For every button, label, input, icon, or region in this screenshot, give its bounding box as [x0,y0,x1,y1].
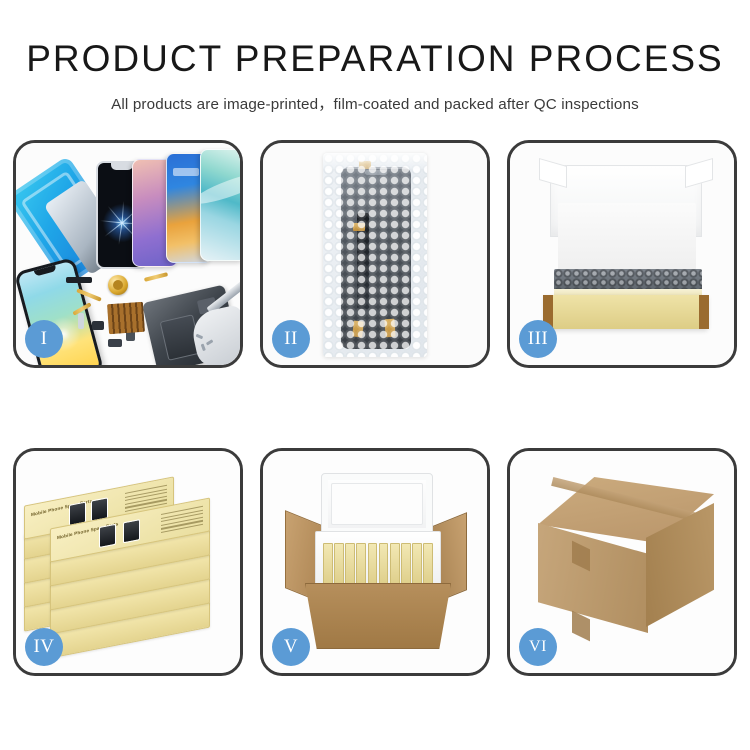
process-step-panel-4: Mobile Phone Spare Parts [13,448,243,676]
foam-box-lid [321,473,433,535]
carton-left-face [538,523,648,633]
process-step-grid: I II [13,140,737,676]
page-subtitle: All products are image-printed，film-coat… [0,92,750,114]
process-step-panel-1: I [13,140,243,368]
bubble-wrap-bag [323,153,427,357]
step-badge-3: III [519,320,557,358]
box-artwork-screen-2 [123,519,140,543]
retail-box-stack-front: Mobile Phone Spare Parts [50,513,216,663]
connector-strip-part [66,277,92,283]
chip-array-part [107,302,145,334]
speaker-part [92,321,104,330]
vibration-motor-part [108,275,128,295]
step-badge-2: II [272,320,310,358]
process-step-panel-5: V [260,448,490,676]
step-badge-1: I [25,320,63,358]
bag-seal-edge [323,153,427,169]
page-title: PRODUCT PREPARATION PROCESS [0,40,750,79]
screen-assembly-inside-bag [341,167,411,349]
yellow-boxes-inside [323,543,433,589]
screws-group [196,335,222,351]
camera-module-part [78,313,84,329]
yellow-box-base [544,295,708,329]
process-step-panel-2: II [260,140,490,368]
flex-cable-part-2 [144,272,168,282]
white-foam-sheet [558,203,696,273]
box-artwork-screen-1 [99,524,116,548]
tape-piece-4 [384,319,395,338]
process-step-panel-6: VI [507,448,737,676]
process-step-panel-3: III [507,140,737,368]
step-badge-6: VI [519,628,557,666]
phone-display-teal [200,149,240,261]
tape-piece-3 [352,321,364,338]
button-flex-part [108,339,122,347]
shipping-carton-open [305,583,451,649]
box-feature-lines [161,506,203,534]
page-header: PRODUCT PREPARATION PROCESS All products… [0,40,750,114]
step-badge-4: IV [25,628,63,666]
product-preparation-process-page: PRODUCT PREPARATION PROCESS All products… [0,0,750,750]
step-badge-5: V [272,628,310,666]
tape-piece-2 [353,223,365,231]
